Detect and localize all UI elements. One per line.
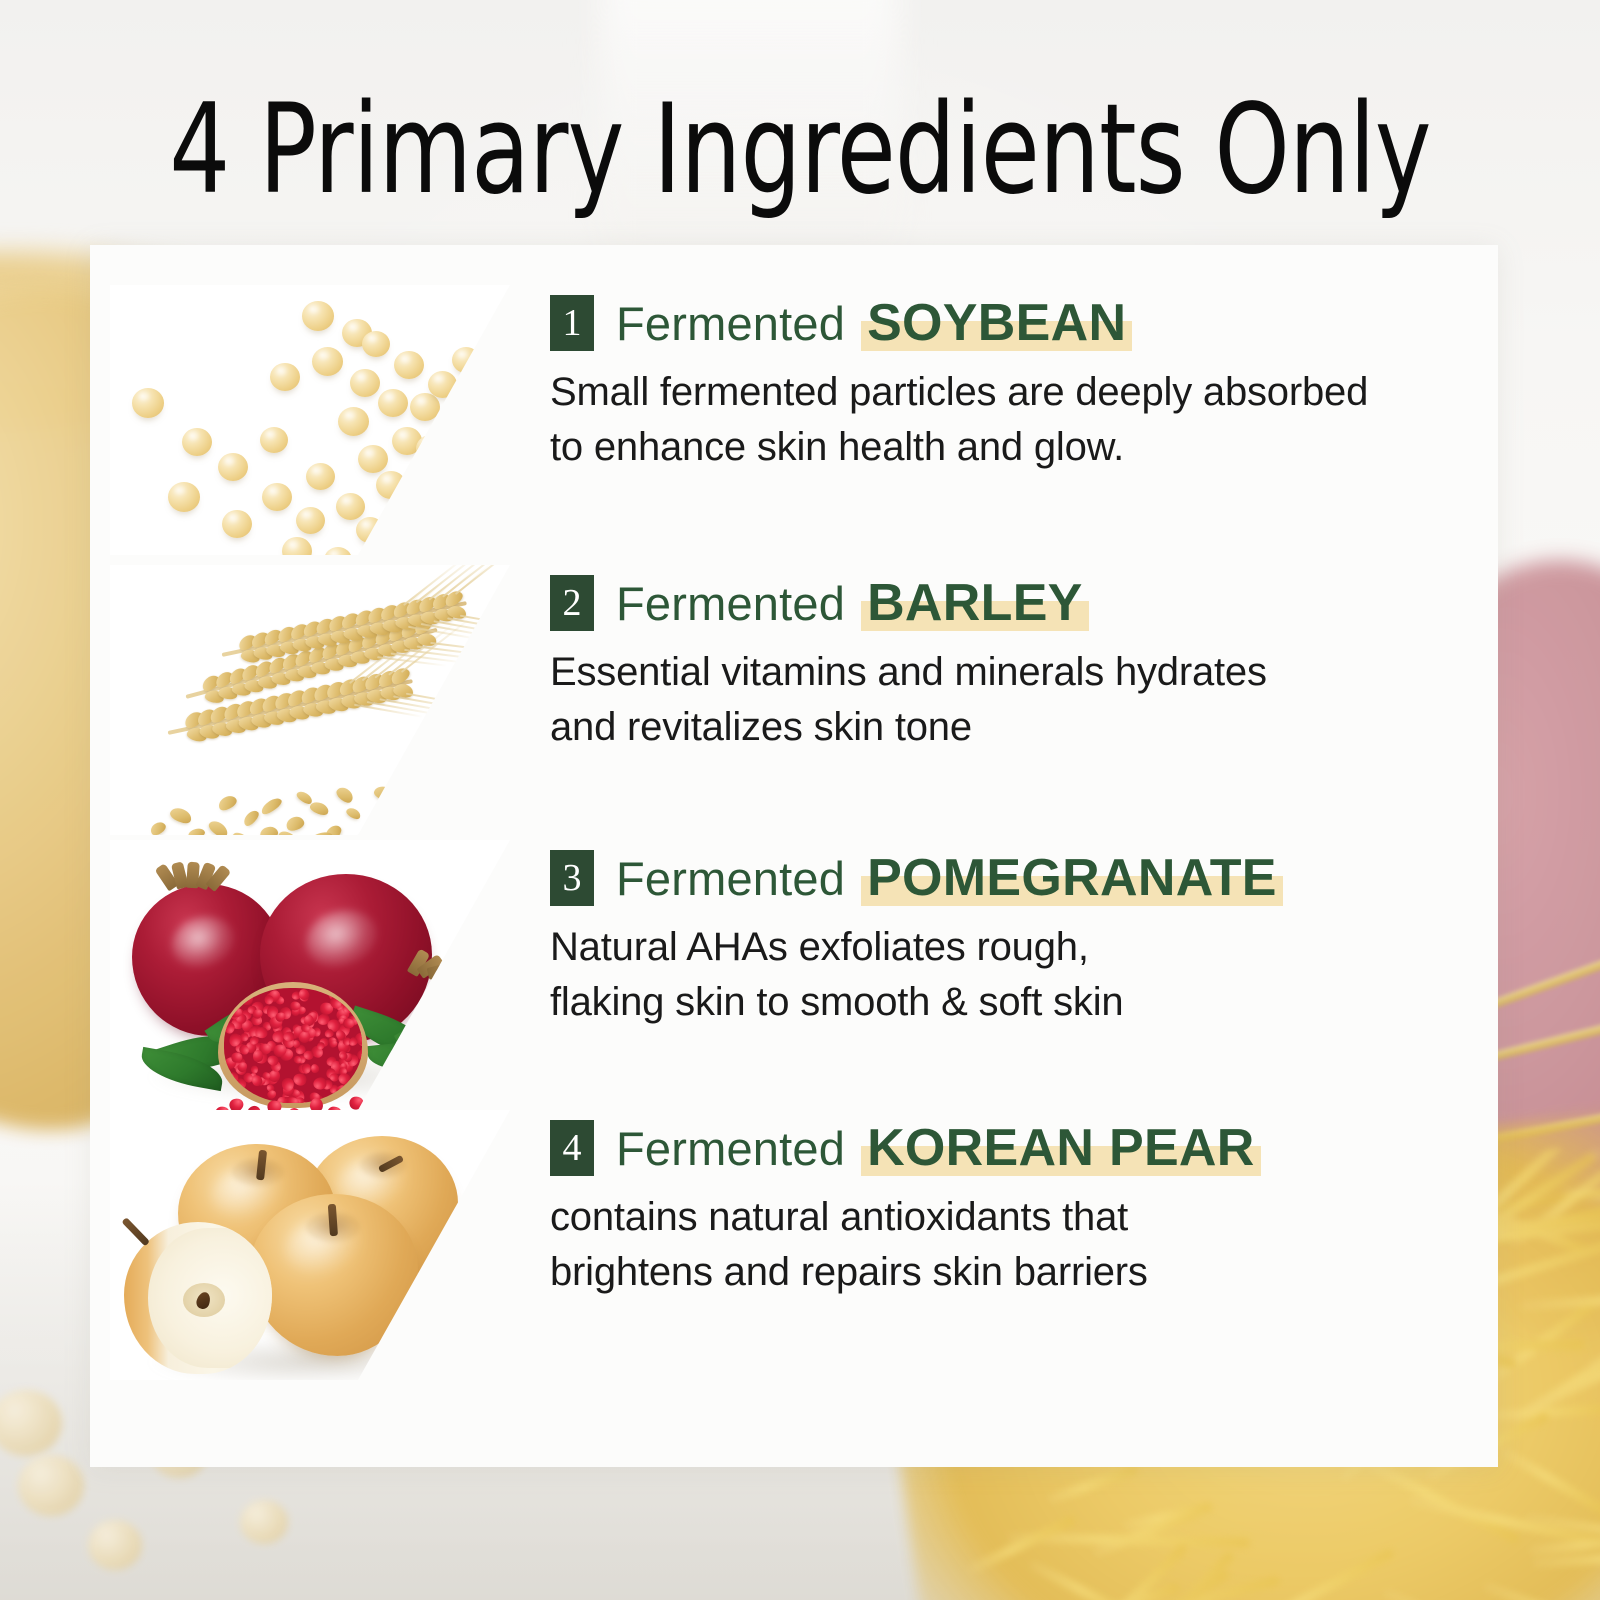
- description-line: brightens and repairs skin barriers: [550, 1245, 1255, 1300]
- soybean: [410, 393, 440, 421]
- ingredient-description: Natural AHAs exfoliates rough, flaking s…: [550, 920, 1277, 1030]
- barley-loose-grain: [241, 808, 261, 828]
- barley-loose-grain: [345, 806, 363, 821]
- ingredient-name: KOREAN PEAR: [867, 1119, 1255, 1177]
- soybean: [132, 388, 164, 418]
- barley-loose-grain: [392, 803, 413, 817]
- pomegranate-aril: [309, 1063, 320, 1074]
- soybean: [446, 503, 473, 528]
- ingredient-row-soybean: 1 Fermented SOYBEAN Small fermented part…: [90, 285, 1498, 555]
- soybeans-photo: [110, 285, 510, 555]
- soybean: [262, 483, 292, 511]
- ingredient-description: contains natural antioxidants that brigh…: [550, 1190, 1255, 1300]
- ingredient-name-wrap: POMEGRANATE: [867, 848, 1277, 908]
- ingredient-name: POMEGRANATE: [867, 849, 1277, 907]
- soybean: [282, 537, 312, 555]
- barley-loose-grain: [409, 815, 428, 829]
- soybean: [270, 363, 300, 391]
- pear-stem: [121, 1217, 150, 1246]
- crown-point: [435, 968, 462, 984]
- pomegranate-arils: [224, 988, 362, 1103]
- soybean: [396, 521, 424, 547]
- barley-loose-grain: [380, 828, 402, 835]
- barley-loose-grain: [352, 831, 374, 835]
- pomegranate-aril: [329, 1040, 339, 1049]
- pomegranate-half: [218, 982, 368, 1108]
- barley-loose-grain: [284, 814, 306, 832]
- ingredient-row-barley: 2 Fermented BARLEY Essential vitamins an…: [90, 565, 1498, 835]
- barley-loose-grain: [148, 820, 167, 835]
- barley-loose-grain: [373, 784, 397, 803]
- description-line: and revitalizes skin tone: [550, 700, 1267, 755]
- barley-loose-grain: [216, 793, 238, 813]
- description-line: Small fermented particles are deeply abs…: [550, 365, 1368, 420]
- description-line: Essential vitamins and minerals hydrates: [550, 645, 1267, 700]
- ingredient-prefix: Fermented: [616, 576, 845, 631]
- soybean: [350, 369, 380, 397]
- barley-loose-grain: [309, 800, 331, 817]
- ingredient-number-badge: 1: [550, 295, 594, 351]
- pomegranate-photo: [110, 840, 510, 1110]
- barley-loose-grain: [168, 805, 193, 825]
- barley-loose-grain: [368, 821, 391, 832]
- pomegranate-aril: [283, 1032, 294, 1042]
- soybean: [362, 331, 390, 357]
- pomegranate-aril: [369, 1100, 388, 1110]
- ingredient-description: Small fermented particles are deeply abs…: [550, 365, 1368, 475]
- ingredient-copy: 2 Fermented BARLEY Essential vitamins an…: [510, 565, 1267, 755]
- barley-loose-grain: [405, 779, 429, 797]
- soybean: [306, 463, 335, 490]
- barley-loose-grain: [259, 825, 279, 835]
- ingredient-name: BARLEY: [867, 574, 1083, 632]
- soybean: [302, 301, 334, 331]
- soybean: [394, 351, 424, 379]
- barley-loose-grain: [207, 818, 231, 835]
- ingredient-prefix: Fermented: [616, 296, 845, 351]
- soybean: [222, 510, 252, 538]
- barley-loose-grain: [187, 827, 205, 835]
- soybean: [218, 453, 248, 481]
- soybean: [452, 347, 480, 373]
- soybean: [358, 445, 388, 473]
- barley-loose-grain: [334, 785, 356, 806]
- soybean: [440, 453, 469, 480]
- soybean: [260, 427, 288, 453]
- pomegranate-aril: [240, 1033, 248, 1042]
- ingredient-row-pomegranate: 3 Fermented POMEGRANATE Natural AHAs exf…: [90, 840, 1498, 1110]
- korean-pear-photo: [110, 1110, 510, 1380]
- description-line: flaking skin to smooth & soft skin: [550, 975, 1277, 1030]
- barley-loose-grain: [259, 795, 284, 817]
- ingredient-name-wrap: SOYBEAN: [867, 293, 1126, 353]
- ingredient-number-badge: 2: [550, 575, 594, 631]
- soybean: [378, 389, 408, 417]
- soybean: [458, 481, 486, 507]
- soybean: [428, 371, 457, 398]
- ingredient-row-korean-pear: 4 Fermented KOREAN PEAR contains natural…: [90, 1110, 1498, 1380]
- ingredient-headline: 3 Fermented POMEGRANATE: [550, 848, 1277, 908]
- pomegranate-aril: [302, 1064, 311, 1074]
- ingredients-card: 1 Fermented SOYBEAN Small fermented part…: [90, 245, 1498, 1467]
- ingredient-headline: 4 Fermented KOREAN PEAR: [550, 1118, 1255, 1178]
- ingredient-number-badge: 3: [550, 850, 594, 906]
- pomegranate-gloss: [165, 909, 240, 975]
- page-title: 4 Primary Ingredients Only: [112, 88, 1488, 212]
- soybean: [410, 481, 439, 508]
- pomegranate-aril: [343, 1018, 355, 1029]
- soybean: [376, 471, 406, 499]
- crown-point: [441, 969, 470, 992]
- soybean: [324, 547, 352, 555]
- soybean: [416, 435, 445, 462]
- soybean: [312, 347, 343, 376]
- ingredient-name-wrap: BARLEY: [867, 573, 1083, 633]
- ingredient-copy: 1 Fermented SOYBEAN Small fermented part…: [510, 285, 1368, 475]
- ingredient-description: Essential vitamins and minerals hydrates…: [550, 645, 1267, 755]
- pomegranate-aril: [224, 1022, 235, 1034]
- description-line: to enhance skin health and glow.: [550, 420, 1368, 475]
- soybean: [168, 482, 200, 512]
- soybean: [440, 407, 469, 434]
- pomegranate-gloss: [298, 901, 383, 974]
- barley-loose-grain: [428, 794, 448, 813]
- soybean: [336, 493, 365, 520]
- description-line: Natural AHAs exfoliates rough,: [550, 920, 1277, 975]
- ingredient-copy: 4 Fermented KOREAN PEAR contains natural…: [510, 1110, 1255, 1300]
- ingredient-headline: 1 Fermented SOYBEAN: [550, 293, 1368, 353]
- pomegranate-aril: [292, 1072, 307, 1086]
- ingredient-name: SOYBEAN: [867, 294, 1126, 352]
- ingredient-name-wrap: KOREAN PEAR: [867, 1118, 1255, 1178]
- description-line: contains natural antioxidants that: [550, 1190, 1255, 1245]
- soybean: [182, 428, 212, 456]
- ingredient-prefix: Fermented: [616, 851, 845, 906]
- ingredient-copy: 3 Fermented POMEGRANATE Natural AHAs exf…: [510, 840, 1277, 1030]
- barley-loose-grain: [231, 830, 253, 835]
- ingredient-headline: 2 Fermented BARLEY: [550, 573, 1267, 633]
- soybean: [338, 407, 369, 436]
- ingredient-number-badge: 4: [550, 1120, 594, 1176]
- barley-photo: [110, 565, 510, 835]
- ingredient-prefix: Fermented: [616, 1121, 845, 1176]
- soybean: [356, 517, 384, 543]
- soybean: [296, 507, 325, 534]
- pomegranate-aril: [300, 1102, 311, 1103]
